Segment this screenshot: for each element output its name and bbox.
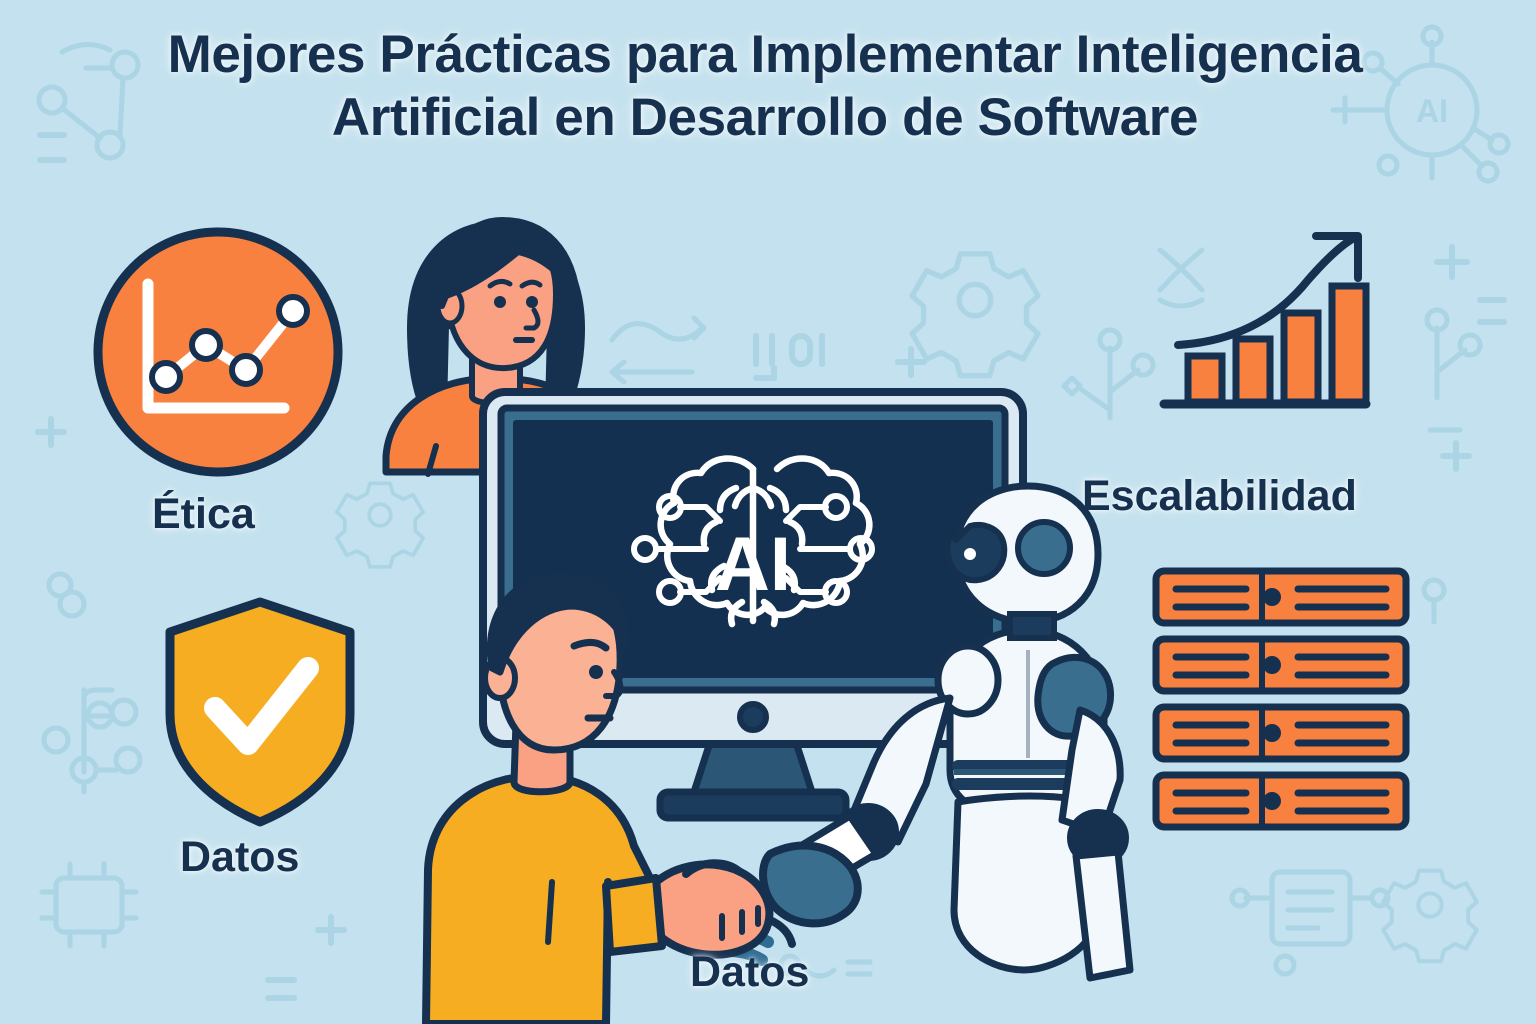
plus-icon bbox=[1443, 443, 1469, 469]
monitor-power-dot bbox=[740, 704, 766, 730]
document-flow-icon bbox=[1232, 872, 1388, 944]
node-network-icon bbox=[39, 44, 138, 158]
plus-icon bbox=[318, 917, 344, 943]
gear-icon bbox=[1383, 871, 1477, 961]
screen-ai-label: AI bbox=[715, 522, 791, 607]
ethics-chart-icon bbox=[88, 222, 348, 482]
data-shield-icon bbox=[160, 596, 360, 828]
ethics-label: Ética bbox=[152, 490, 255, 539]
plus-icon bbox=[38, 419, 64, 445]
data-center-label: Datos bbox=[690, 948, 809, 997]
chip-icon bbox=[42, 864, 136, 946]
circuit-node-icon bbox=[44, 592, 140, 792]
infographic-canvas: AI bbox=[0, 0, 1536, 1024]
plus-icon bbox=[1437, 247, 1467, 277]
center-scene: AI bbox=[350, 210, 1250, 1024]
page-title: Mejores Prácticas para Implementar Intel… bbox=[150, 24, 1380, 149]
data-shield-label: Datos bbox=[180, 833, 299, 882]
svg-text:AI: AI bbox=[1416, 93, 1448, 129]
usb-icon bbox=[1427, 310, 1480, 398]
